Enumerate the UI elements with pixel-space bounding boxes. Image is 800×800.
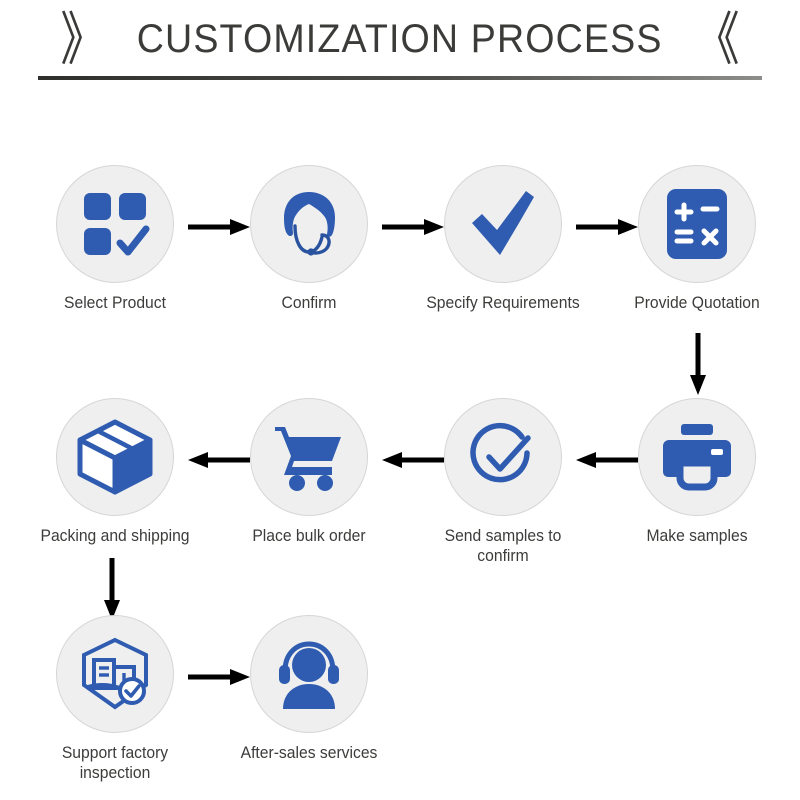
step-icon-circle xyxy=(250,615,368,733)
step-icon-circle xyxy=(444,165,562,283)
step-icon-circle xyxy=(638,398,756,516)
step-icon-circle xyxy=(444,398,562,516)
step-icon-circle xyxy=(250,398,368,516)
step-label: Packing and shipping xyxy=(35,526,195,546)
step-label: Confirm xyxy=(229,293,389,313)
step-icon-circle xyxy=(56,165,174,283)
step-label: Specify Requirements xyxy=(423,293,583,313)
arrow-step4-to-step5 xyxy=(687,333,709,395)
page-header: 》 CUSTOMIZATION PROCESS 《 xyxy=(0,0,800,90)
step-node-after-sales-services[interactable]: After-sales services xyxy=(225,615,393,763)
step-label: After-sales services xyxy=(229,743,389,763)
step-label: Make samples xyxy=(617,526,777,546)
page-title: CUSTOMIZATION PROCESS xyxy=(137,17,663,62)
step-icon-circle xyxy=(56,615,174,733)
step-label: Send samples to confirm xyxy=(423,526,583,566)
step-node-support-factory-inspection[interactable]: Support factory inspection xyxy=(31,615,199,783)
circle-check-icon xyxy=(465,419,541,495)
step-node-place-bulk-order[interactable]: Place bulk order xyxy=(225,398,393,546)
step-node-select-product[interactable]: Select Product xyxy=(31,165,199,313)
grid-check-icon xyxy=(78,187,152,261)
support-person-icon xyxy=(271,639,347,709)
calculator-icon xyxy=(663,187,731,261)
step-icon-circle xyxy=(638,165,756,283)
title-row: 》 CUSTOMIZATION PROCESS 《 xyxy=(0,8,800,70)
step-label: Support factory inspection xyxy=(35,743,195,783)
shopping-cart-icon xyxy=(271,421,347,493)
step-icon-circle xyxy=(250,165,368,283)
step-node-provide-quotation[interactable]: Provide Quotation xyxy=(613,165,781,313)
package-box-icon xyxy=(76,418,154,496)
step-label: Select Product xyxy=(35,293,195,313)
factory-shield-check-icon xyxy=(76,635,154,713)
step-node-specify-requirements[interactable]: Specify Requirements xyxy=(419,165,587,313)
arrow-step8-to-step9 xyxy=(101,558,123,620)
headset-agent-icon xyxy=(271,186,347,262)
step-node-send-samples-to-confirm[interactable]: Send samples to confirm xyxy=(419,398,587,566)
step-label: Place bulk order xyxy=(229,526,389,546)
step-node-packing-and-shipping[interactable]: Packing and shipping xyxy=(31,398,199,546)
step-node-make-samples[interactable]: Make samples xyxy=(613,398,781,546)
printer-icon xyxy=(659,422,735,492)
chevron-left-decoration: 》 xyxy=(60,10,106,68)
checkmark-icon xyxy=(464,185,542,263)
step-icon-circle xyxy=(56,398,174,516)
title-divider xyxy=(38,76,762,80)
chevron-right-decoration: 《 xyxy=(694,10,740,68)
step-node-confirm[interactable]: Confirm xyxy=(225,165,393,313)
step-label: Provide Quotation xyxy=(617,293,777,313)
